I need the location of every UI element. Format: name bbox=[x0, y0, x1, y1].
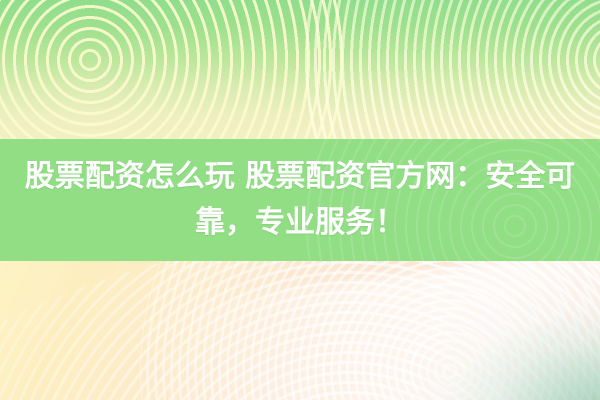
top-right-arc-pattern bbox=[300, 0, 600, 139]
page-title: 股票配资怎么玩 股票配资官方网：安全可靠，专业服务！ bbox=[10, 154, 590, 246]
promo-banner: 股票配资怎么玩 股票配资官方网：安全可靠，专业服务！ bbox=[0, 0, 600, 400]
top-left-arc-pattern bbox=[0, 0, 350, 139]
bottom-decoration-clip bbox=[0, 261, 600, 400]
headline-container: 股票配资怎么玩 股票配资官方网：安全可靠，专业服务！ bbox=[0, 139, 600, 261]
bottom-right-teal-glow bbox=[350, 270, 600, 400]
top-decoration-clip bbox=[0, 0, 600, 139]
